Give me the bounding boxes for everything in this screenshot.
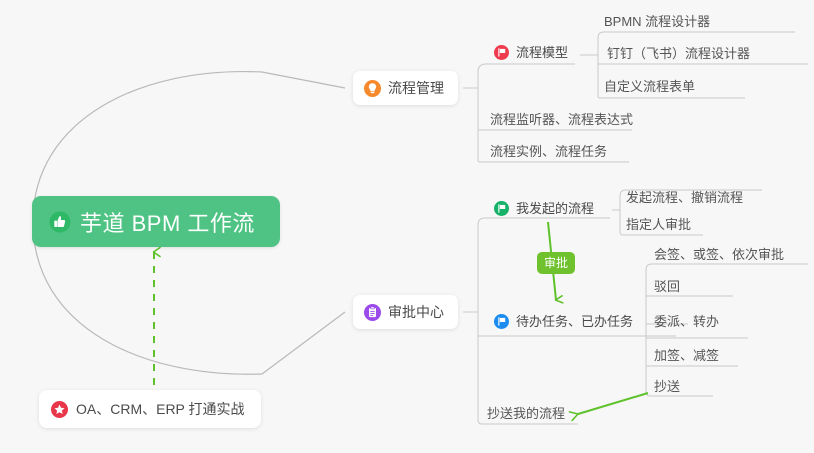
branch-card-approval-center[interactable]: 审批中心: [353, 295, 458, 329]
node-my-initiated[interactable]: 我发起的流程: [494, 200, 594, 220]
label-cc: 抄送: [654, 379, 680, 394]
node-custom-form[interactable]: 自定义流程表单: [604, 78, 695, 98]
node-cc[interactable]: 抄送: [654, 378, 680, 398]
integration-callout-label: OA、CRM、ERP 打通实战: [76, 399, 245, 419]
flag-icon-red: [494, 45, 509, 60]
cc-flow-arrow: [578, 393, 648, 414]
root-label: 芋道 BPM 工作流: [80, 206, 255, 238]
label-bpmn-designer: BPMN 流程设计器: [604, 14, 710, 29]
label-cc-to-me: 抄送我的流程: [487, 406, 565, 421]
thumbs-up-icon: [49, 211, 71, 233]
approve-badge-label: 审批: [544, 256, 568, 270]
label-process-listener: 流程监听器、流程表达式: [490, 112, 633, 127]
flag-icon-blue: [494, 314, 509, 329]
approve-badge: 审批: [537, 252, 575, 274]
node-assign-approver[interactable]: 指定人审批: [626, 216, 691, 236]
node-add-remove-sign[interactable]: 加签、减签: [654, 347, 719, 367]
label-dingtalk-designer: 钉钉（飞书）流程设计器: [607, 46, 750, 61]
label-add-remove-sign: 加签、减签: [654, 348, 719, 363]
integration-callout-card[interactable]: OA、CRM、ERP 打通实战: [39, 390, 261, 428]
branch-card-process-management[interactable]: 流程管理: [353, 71, 458, 105]
star-icon: [51, 401, 68, 418]
lightbulb-icon: [364, 80, 381, 97]
label-countersign: 会签、或签、依次审批: [654, 247, 784, 262]
node-process-instance[interactable]: 流程实例、流程任务: [490, 143, 607, 163]
node-countersign[interactable]: 会签、或签、依次审批: [654, 246, 784, 266]
label-start-cancel-process: 发起流程、撤销流程: [626, 190, 743, 205]
label-delegate-transfer: 委派、转办: [654, 314, 719, 329]
node-dingtalk-designer[interactable]: 钉钉（飞书）流程设计器: [607, 45, 750, 65]
node-process-model[interactable]: 流程模型: [494, 44, 568, 64]
label-reject: 驳回: [654, 279, 680, 294]
root-node[interactable]: 芋道 BPM 工作流: [32, 196, 280, 247]
flag-icon-green: [494, 201, 509, 216]
node-delegate-transfer[interactable]: 委派、转办: [654, 313, 719, 333]
label-custom-form: 自定义流程表单: [604, 79, 695, 94]
node-start-cancel-process[interactable]: 发起流程、撤销流程: [626, 189, 743, 209]
branch-label-process-management: 流程管理: [388, 78, 444, 98]
node-bpmn-designer[interactable]: BPMN 流程设计器: [604, 13, 710, 33]
label-assign-approver: 指定人审批: [626, 217, 691, 232]
label-process-model: 流程模型: [516, 44, 568, 61]
label-my-initiated: 我发起的流程: [516, 200, 594, 217]
node-cc-to-me[interactable]: 抄送我的流程: [487, 405, 565, 425]
branch-label-approval-center: 审批中心: [388, 302, 444, 322]
clipboard-icon: [364, 304, 381, 321]
node-todo-done-tasks[interactable]: 待办任务、已办任务: [494, 313, 633, 333]
label-process-instance: 流程实例、流程任务: [490, 144, 607, 159]
node-process-listener[interactable]: 流程监听器、流程表达式: [490, 111, 633, 131]
label-todo-done-tasks: 待办任务、已办任务: [516, 313, 633, 330]
process-model-branch-line: [478, 64, 575, 72]
node-reject[interactable]: 驳回: [654, 278, 680, 298]
mindmap-canvas: 芋道 BPM 工作流 流程管理 审批中心: [0, 0, 814, 453]
